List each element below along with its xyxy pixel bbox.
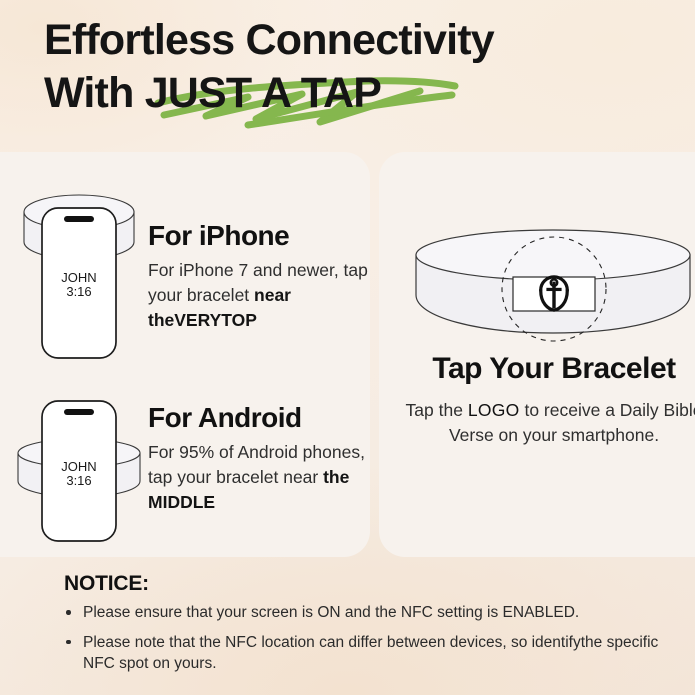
header: Effortless Connectivity With JUST A TAP [44,14,664,120]
headline-line-1: Effortless Connectivity [44,14,664,67]
bracelet-section-title: Tap Your Bracelet [379,352,695,386]
infographic-page: Effortless Connectivity With JUST A TAP [0,0,695,695]
android-with-bracelet-illustration: JOHN 3:16 [14,395,144,545]
notice-title: NOTICE: [64,572,664,596]
phone-screen-line-2: 3:16 [66,473,91,488]
phone-screen-line-1: JOHN [61,459,96,474]
headline-prefix: With [44,69,145,117]
bracelet-illustration [408,225,695,355]
phone-screen-line-1: JOHN [61,270,96,285]
iphone-with-bracelet-illustration: JOHN 3:16 [14,190,144,365]
iphone-section-title: For iPhone [148,220,289,252]
notice-item-text: Please ensure that your screen is ON and… [83,604,579,621]
iphone-section-body: For iPhone 7 and newer, tap your bracele… [148,258,373,333]
notice-item: Please note that the NFC location can di… [64,633,664,675]
bracelet-section-body: Tap the LOGO to receive a Daily Bible Ve… [392,398,695,449]
notice-item-text: Please note that the NFC location can di… [83,634,658,672]
bullet-icon [66,640,71,645]
android-section-body: For 95% of Android phones, tap your brac… [148,440,380,515]
headline-line-2: With JUST A TAP [44,67,664,120]
android-section-title: For Android [148,402,302,434]
notice-item: Please ensure that your screen is ON and… [64,603,664,624]
notice-section: NOTICE: Please ensure that your screen i… [64,572,664,683]
headline-accent: JUST A TAP [145,69,381,117]
phone-screen-line-2: 3:16 [66,284,91,299]
bullet-icon [66,610,71,615]
bracelet-body-logo-word: LOGO [468,400,520,420]
bracelet-body-prefix: Tap the [406,400,468,420]
bracelet-logo-plate [513,277,595,311]
